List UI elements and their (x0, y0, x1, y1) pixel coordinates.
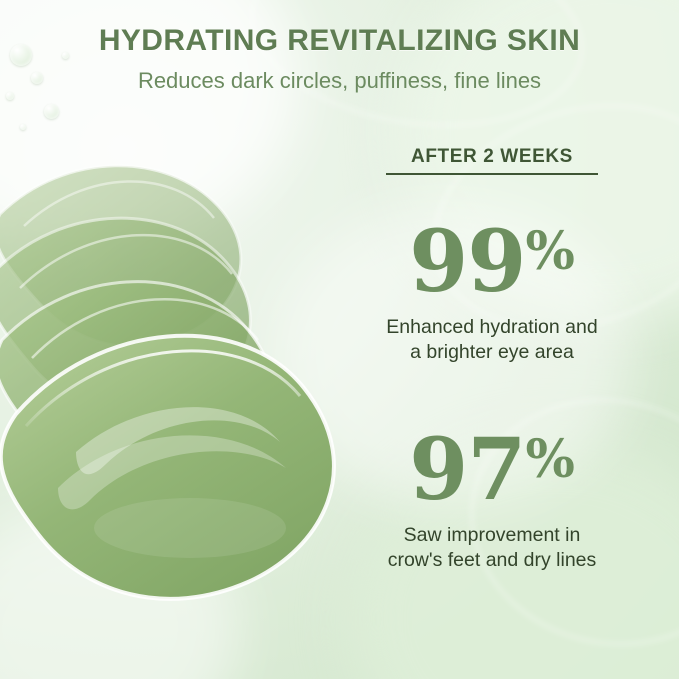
stat-number-text: 99 (409, 212, 525, 312)
stat-caption-line: crow's feet and dry lines (318, 548, 666, 573)
stat-block-hydration: 99% Enhanced hydration and a brighter ey… (318, 223, 666, 365)
page-subtitle: Reduces dark circles, puffiness, fine li… (0, 68, 679, 94)
stat-number-text: 97 (409, 420, 525, 520)
stat-caption-line: Enhanced hydration and (318, 315, 666, 340)
percent-symbol: % (525, 221, 574, 282)
stat-value: 99% (318, 223, 666, 301)
after-duration-label: AFTER 2 WEEKS (386, 146, 598, 175)
stat-block-crows-feet: 97% Saw improvement in crow's feet and d… (318, 431, 666, 573)
water-droplet-icon (20, 124, 26, 130)
page-title: HYDRATING REVITALIZING SKIN (0, 24, 679, 58)
background-wash (0, 499, 240, 679)
stat-value: 97% (318, 431, 666, 509)
percent-symbol: % (525, 429, 574, 490)
statistics-panel: AFTER 2 WEEKS 99% Enhanced hydration and… (318, 146, 666, 573)
product-infographic: HYDRATING REVITALIZING SKIN Reduces dark… (0, 0, 679, 679)
stat-caption: Saw improvement in crow's feet and dry l… (318, 523, 666, 573)
stat-caption-line: Saw improvement in (318, 523, 666, 548)
water-droplet-icon (44, 104, 59, 119)
stat-caption: Enhanced hydration and a brighter eye ar… (318, 315, 666, 365)
stat-caption-line: a brighter eye area (318, 340, 666, 365)
